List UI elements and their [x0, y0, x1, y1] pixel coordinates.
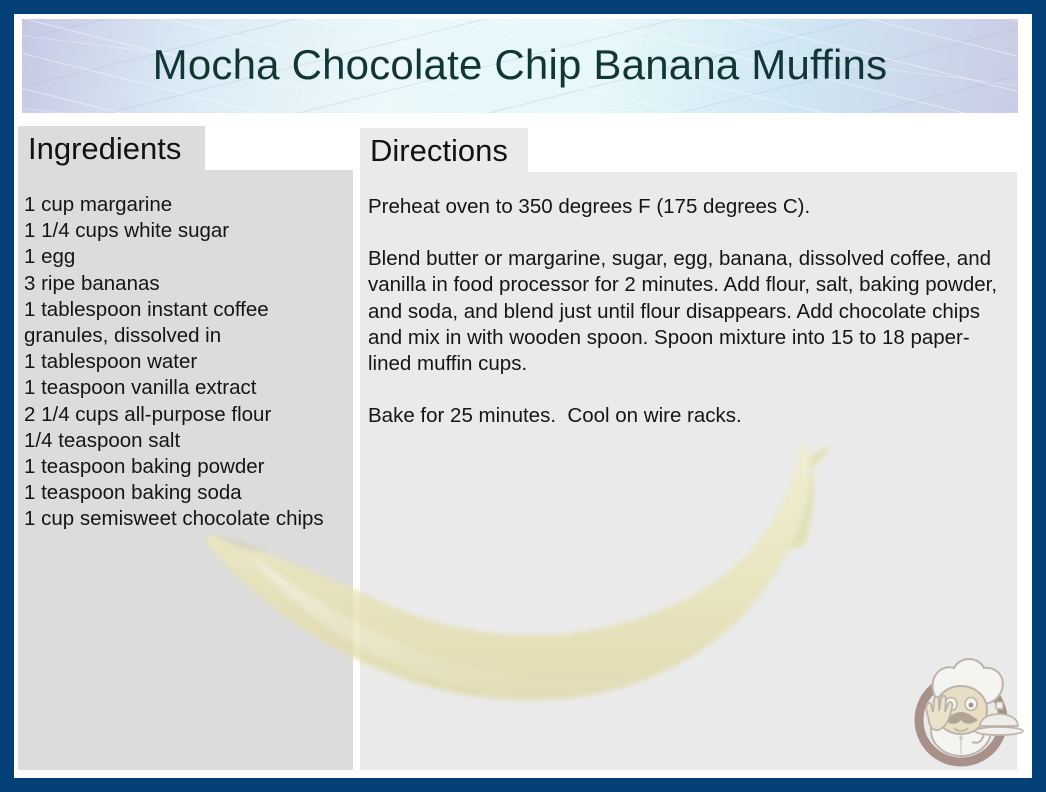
recipe-card: Mocha Chocolate Chip Banana Muffins Ingr…	[0, 0, 1046, 792]
ingredient-item: 1 teaspoon vanilla extract	[24, 375, 341, 401]
title-banner: Mocha Chocolate Chip Banana Muffins	[22, 19, 1018, 113]
page-title: Mocha Chocolate Chip Banana Muffins	[22, 41, 1018, 89]
ingredient-item: 1 cup margarine	[24, 192, 341, 218]
ingredient-item: 1/4 teaspoon salt	[24, 428, 341, 454]
ingredient-item: 3 ripe bananas	[24, 271, 341, 297]
direction-paragraph: Preheat oven to 350 degrees F (175 degre…	[368, 194, 1001, 220]
tab-ingredients-label: Ingredients	[28, 131, 181, 166]
ingredients-panel: 1 cup margarine1 1/4 cups white sugar1 e…	[18, 170, 353, 770]
tab-directions[interactable]: Directions	[360, 128, 528, 172]
ingredient-item: 1 tablespoon water	[24, 349, 341, 375]
ingredient-item: 2 1/4 cups all-purpose flour	[24, 402, 341, 428]
tab-directions-label: Directions	[370, 133, 508, 168]
direction-paragraph: Bake for 25 minutes. Cool on wire racks.	[368, 403, 1001, 429]
tab-ingredients[interactable]: Ingredients	[18, 126, 205, 170]
ingredient-item: 1 1/4 cups white sugar	[24, 218, 341, 244]
ingredient-item: granules, dissolved in	[24, 323, 341, 349]
ingredient-item: 1 teaspoon baking soda	[24, 480, 341, 506]
ingredient-item: 1 cup semisweet chocolate chips	[24, 506, 341, 532]
ingredient-item: 1 teaspoon baking powder	[24, 454, 341, 480]
directions-text: Preheat oven to 350 degrees F (175 degre…	[368, 194, 1001, 429]
direction-paragraph: Blend butter or margarine, sugar, egg, b…	[368, 246, 1001, 377]
ingredient-item: 1 tablespoon instant coffee	[24, 297, 341, 323]
ingredient-list: 1 cup margarine1 1/4 cups white sugar1 e…	[24, 192, 341, 533]
ingredient-item: 1 egg	[24, 244, 341, 270]
directions-panel: Preheat oven to 350 degrees F (175 degre…	[360, 172, 1017, 770]
